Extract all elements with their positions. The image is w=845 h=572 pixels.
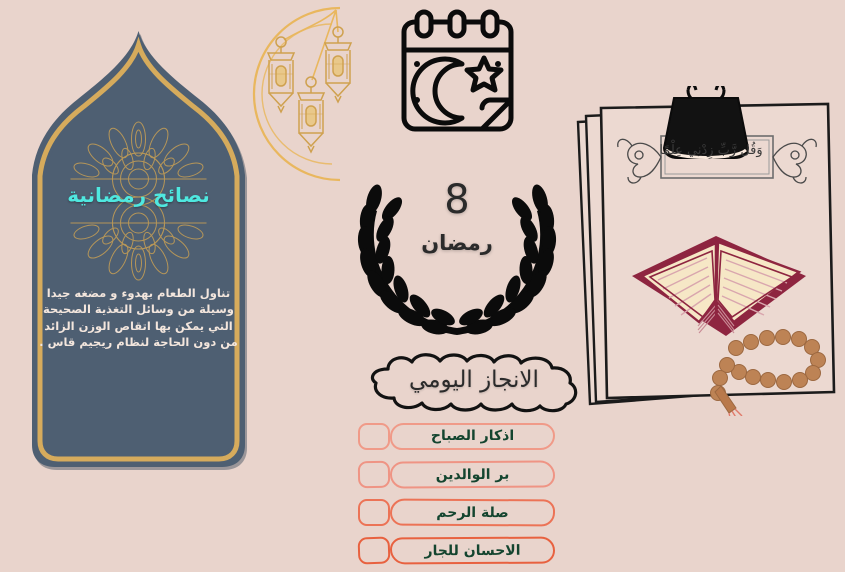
ramadan-month-label: رمضان [352,231,562,255]
lantern-icon-1 [268,37,294,112]
lantern-icon-2 [298,77,324,152]
checklist-row[interactable]: صلة الرحم [358,493,563,531]
tips-card-body-text: تناول الطعام بهدوء و مضغه جيدا وسيلة من … [36,285,241,350]
crescent-moon-glyph [413,59,462,123]
checklist-label-1[interactable]: بر الوالدين [390,460,555,488]
daily-achievement-header: الانجاز اليومي [358,352,590,414]
poster-canvas: نصائح رمضانية تناول الطعام بهدوء و مضغه … [0,0,845,572]
checklist-checkbox-1[interactable] [358,460,390,488]
quran-calligraphy-text: وَقُل رَّبِّ زِدْنِي عِلْمًا [616,143,806,158]
ramadan-day-number: 8 [352,177,562,223]
quran-clipboard-illustration: وَقُل رَّبِّ زِدْنِي عِلْمًا [566,86,845,416]
lantern-icon-3 [325,27,351,102]
ramadan-tips-card: نصائح رمضانية تناول الطعام بهدوء و مضغه … [14,27,263,471]
ramadan-day-badge: 8 رمضان [352,163,562,343]
checklist-row[interactable]: الاحسان للجار [358,531,563,569]
tips-card-title: نصائح رمضانية [14,183,263,207]
checklist-label-3[interactable]: الاحسان للجار [390,536,555,564]
checklist-checkbox-0[interactable] [358,423,390,450]
daily-achievement-checklist: اذكار الصباح بر الوالدين صلة الرحم الاحس… [358,417,563,569]
ramadan-calendar-icon [390,8,525,150]
checklist-label-0[interactable]: اذكار الصباح [390,423,555,450]
daily-achievement-title: الانجاز اليومي [358,367,590,393]
checklist-row[interactable]: بر الوالدين [358,455,563,493]
checklist-row[interactable]: اذكار الصباح [358,417,563,455]
checklist-label-2[interactable]: صلة الرحم [390,498,555,526]
checklist-checkbox-2[interactable] [358,499,390,526]
checklist-checkbox-3[interactable] [358,536,391,564]
lantern-strings [284,10,338,80]
